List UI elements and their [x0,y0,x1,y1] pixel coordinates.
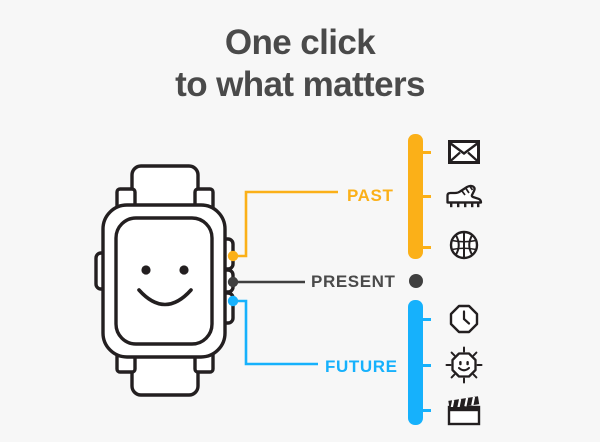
future-timeline-bar [408,300,423,425]
label-present[interactable]: PRESENT [311,272,396,292]
watch-bezel [116,218,212,344]
smiley-eye-left [141,265,150,274]
icon-cell-sports-shoe[interactable] [441,174,487,220]
future-tick-1 [423,318,431,321]
icon-cell-ball[interactable] [441,222,487,268]
infographic-canvas: One click to what matters [0,0,600,442]
past-timeline-bar [408,134,423,259]
clapperboard-icon [447,396,481,426]
label-past[interactable]: PAST [347,186,393,206]
clock-icon [449,304,479,334]
icon-cell-time[interactable] [441,296,487,342]
smartwatch-illustration [92,163,252,398]
page-title-line-2: to what matters [0,64,600,106]
page-title: One click to what matters [0,22,600,106]
soccer-cleat-icon [444,184,484,210]
future-tick-3 [423,409,431,412]
future-tick-2 [423,364,431,367]
envelope-icon [448,140,480,164]
icon-cell-movies[interactable] [441,388,487,434]
basketball-icon [449,230,479,260]
present-marker-dot [409,274,423,288]
page-title-line-1: One click [0,22,600,64]
past-tick-2 [423,195,431,198]
sun-smiley-icon [445,346,483,384]
icon-cell-mail[interactable] [441,129,487,175]
past-tick-3 [423,246,431,249]
smiley-eye-right [179,265,188,274]
icon-cell-weather[interactable] [441,342,487,388]
past-tick-1 [423,151,431,154]
label-future[interactable]: FUTURE [325,357,398,377]
